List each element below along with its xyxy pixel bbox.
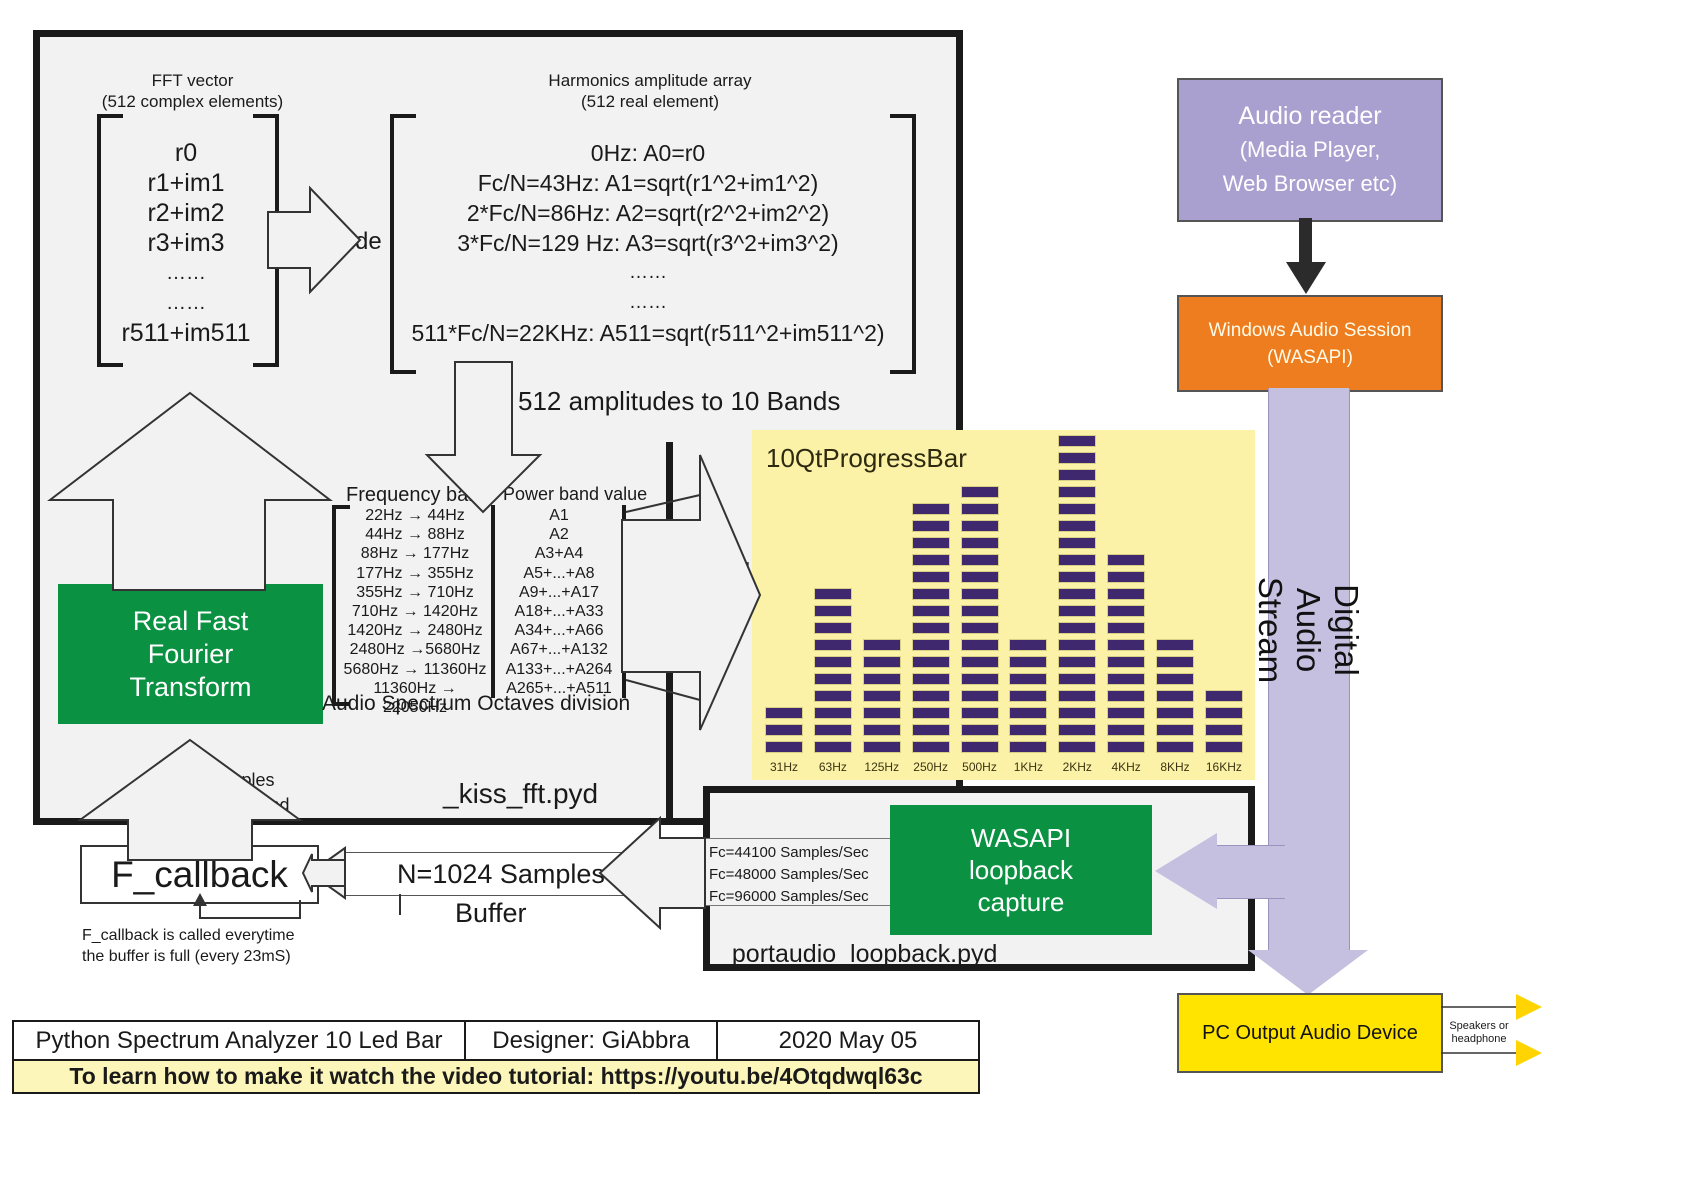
bar-segment bbox=[961, 639, 999, 651]
power-divider bbox=[622, 505, 626, 698]
bar-segment bbox=[814, 605, 852, 617]
progress-bar[interactable] bbox=[814, 588, 852, 753]
bar-segment bbox=[863, 690, 901, 702]
frequency-label: 4KHz bbox=[1107, 760, 1145, 774]
frequency-band-cell: 177Hz → 355Hz bbox=[340, 564, 490, 583]
frequency-label: 250Hz bbox=[912, 760, 950, 774]
bar-segment bbox=[1058, 486, 1096, 498]
bar-segment bbox=[1058, 622, 1096, 634]
bar-segment bbox=[912, 605, 950, 617]
project-title: Python Spectrum Analyzer 10 Led Bar bbox=[14, 1022, 464, 1059]
reader-to-wasapi-arrow-head bbox=[1286, 262, 1326, 294]
wasapi-loopback-capture-box: WASAPI loopback capture bbox=[890, 805, 1152, 935]
frequency-band-cell: 2480Hz →5680Hz bbox=[340, 640, 490, 659]
progress-bar[interactable] bbox=[912, 503, 950, 753]
frequency-band-cell: 5680Hz → 11360Hz bbox=[340, 660, 490, 679]
bar-segment bbox=[912, 741, 950, 753]
bar-segment bbox=[863, 639, 901, 651]
bar-segment bbox=[961, 656, 999, 668]
frequency-label: 125Hz bbox=[863, 760, 901, 774]
bar-segment bbox=[1009, 724, 1047, 736]
power-band-column: A1A2A3+A4A5+...+A8A9+...+A17A18+...+A33A… bbox=[496, 506, 622, 698]
power-band-cell: A2 bbox=[496, 525, 622, 544]
bar-segment bbox=[1058, 537, 1096, 549]
bar-segment bbox=[1205, 741, 1243, 753]
frequency-band-column: 22Hz → 44Hz44Hz → 88Hz88Hz → 177Hz177Hz … bbox=[340, 506, 490, 717]
bar-segment bbox=[863, 724, 901, 736]
bar-segment bbox=[863, 673, 901, 685]
bar-segment bbox=[1058, 520, 1096, 532]
windows-audio-session-box: Windows Audio Session (WASAPI) bbox=[1177, 295, 1443, 392]
bar-segment bbox=[912, 537, 950, 549]
portaudio-module-label: _portaudio_loopback.pyd bbox=[718, 940, 997, 969]
amplitude-arrow-label: Amplitude bbox=[275, 228, 382, 256]
bar-segment bbox=[1058, 690, 1096, 702]
progress-bar[interactable] bbox=[1058, 435, 1096, 753]
sample-rate-box: Fc=44100 Samples/Sec Fc=48000 Samples/Se… bbox=[703, 838, 893, 906]
bar-segment bbox=[961, 622, 999, 634]
bar-segment bbox=[1058, 588, 1096, 600]
bar-segment bbox=[961, 673, 999, 685]
frequency-label: 1KHz bbox=[1009, 760, 1047, 774]
frequency-band-cell: 88Hz → 177Hz bbox=[340, 544, 490, 563]
bar-segment bbox=[1156, 741, 1194, 753]
fft-vector-title: FFT vector (512 complex elements) bbox=[85, 70, 300, 112]
bar-segment bbox=[961, 571, 999, 583]
bar-segment bbox=[961, 741, 999, 753]
bar-segment bbox=[961, 707, 999, 719]
bar-segment bbox=[1058, 554, 1096, 566]
harmonics-title: Harmonics amplitude array (512 real elem… bbox=[505, 70, 795, 112]
bar-segment bbox=[1058, 724, 1096, 736]
frequency-label: 8KHz bbox=[1156, 760, 1194, 774]
bar-segment bbox=[1205, 724, 1243, 736]
bar-segment bbox=[814, 622, 852, 634]
bar-segment bbox=[1058, 673, 1096, 685]
power-band-cell: A1 bbox=[496, 506, 622, 525]
power-band-cell: A18+...+A33 bbox=[496, 602, 622, 621]
bar-segment bbox=[765, 741, 803, 753]
bar-segment bbox=[814, 588, 852, 600]
bar-segment bbox=[1058, 571, 1096, 583]
bar-segment bbox=[961, 554, 999, 566]
power-band-cell: A67+...+A132 bbox=[496, 640, 622, 659]
bar-segment bbox=[814, 741, 852, 753]
frequency-label: 16KHz bbox=[1205, 760, 1243, 774]
digital-audio-stream-arrowhead bbox=[1248, 950, 1368, 995]
band-divider bbox=[491, 505, 495, 698]
power-note: 10 Power band values are used to set the… bbox=[640, 558, 765, 630]
frequency-label: 63Hz bbox=[814, 760, 852, 774]
bar-segment bbox=[912, 656, 950, 668]
stream-to-capture-arrow-shaft bbox=[1215, 845, 1285, 899]
bar-segment bbox=[814, 724, 852, 736]
bar-segment bbox=[765, 707, 803, 719]
bar-segment bbox=[912, 520, 950, 532]
fft-vector-elements: r0 r1+im1 r2+im2 r3+im3 …… …… r511+im511 bbox=[100, 138, 272, 348]
harmonics-lines: 0Hz: A0=r0 Fc/N=43Hz: A1=sqrt(r1^2+im1^2… bbox=[398, 138, 898, 348]
bar-segment bbox=[912, 503, 950, 515]
progress-bar[interactable] bbox=[765, 707, 803, 753]
bar-segment bbox=[1107, 741, 1145, 753]
bar-segment bbox=[961, 690, 999, 702]
buffer-caption: Buffer bbox=[455, 898, 527, 929]
designer: Designer: GiAbbra bbox=[464, 1022, 716, 1059]
bar-segment bbox=[961, 503, 999, 515]
bar-segment bbox=[961, 588, 999, 600]
bar-segment bbox=[961, 724, 999, 736]
power-band-cell: A3+A4 bbox=[496, 544, 622, 563]
bar-segment bbox=[814, 690, 852, 702]
bar-segment bbox=[863, 741, 901, 753]
power-band-header: Power band value bbox=[503, 484, 647, 505]
bar-segment bbox=[814, 673, 852, 685]
samples-note: 1024 Samples every 23mSecond bbox=[132, 768, 302, 818]
bar-segment bbox=[912, 588, 950, 600]
kiss-module-label: _kiss_fft.pyd bbox=[443, 778, 598, 810]
frequency-label: 500Hz bbox=[961, 760, 999, 774]
progress-bar[interactable] bbox=[1009, 639, 1047, 753]
callback-note: F_callback is called everytime the buffe… bbox=[82, 925, 295, 967]
audio-reader-box: Audio reader (Media Player, Web Browser … bbox=[1177, 78, 1443, 222]
vector-note: One vector of 512 complex elements every… bbox=[112, 463, 265, 541]
frequency-label-row: 31Hz63Hz125Hz250Hz500Hz1KHz2KHz4KHz8KHz1… bbox=[765, 760, 1243, 774]
frequency-label: 31Hz bbox=[765, 760, 803, 774]
real-fast-fourier-transform-box: Real Fast Fourier Transform bbox=[58, 584, 323, 724]
bar-segment bbox=[1058, 656, 1096, 668]
bar-segment bbox=[1156, 724, 1194, 736]
bar-segment bbox=[1058, 503, 1096, 515]
bar-segment bbox=[814, 639, 852, 651]
octaves-caption: Audio Spectrum Octaves division bbox=[322, 692, 630, 716]
bar-segment bbox=[1058, 469, 1096, 481]
bar-segment bbox=[814, 707, 852, 719]
bar-segment bbox=[1009, 656, 1047, 668]
bar-segment bbox=[912, 554, 950, 566]
bar-segment bbox=[912, 724, 950, 736]
frequency-band-header: Frequency band bbox=[346, 484, 491, 507]
bar-segment bbox=[1058, 707, 1096, 719]
title-block-row: Python Spectrum Analyzer 10 Led Bar Desi… bbox=[12, 1020, 980, 1061]
frequency-band-cell: 1420Hz → 2480Hz bbox=[340, 621, 490, 640]
bar-segment bbox=[912, 707, 950, 719]
bar-segment bbox=[961, 520, 999, 532]
bar-segment bbox=[863, 707, 901, 719]
bar-segment bbox=[863, 656, 901, 668]
frequency-band-cell: 355Hz → 710Hz bbox=[340, 583, 490, 602]
bar-segment bbox=[912, 622, 950, 634]
bar-segment bbox=[1107, 724, 1145, 736]
bar-segment bbox=[1009, 707, 1047, 719]
tutorial-link[interactable]: To learn how to make it watch the video … bbox=[12, 1061, 980, 1094]
bar-segment bbox=[961, 605, 999, 617]
f-callback-box: F_callback bbox=[80, 845, 319, 904]
bands-arrow-label: 512 amplitudes to 10 Bands bbox=[518, 386, 840, 417]
bar-segment bbox=[765, 724, 803, 736]
stream-to-capture-arrow-head bbox=[1155, 833, 1217, 909]
bar-segment bbox=[1058, 741, 1096, 753]
bar-segment bbox=[1009, 690, 1047, 702]
bar-segment bbox=[1009, 741, 1047, 753]
power-band-cell: A9+...+A17 bbox=[496, 583, 622, 602]
frequency-band-cell: 710Hz → 1420Hz bbox=[340, 602, 490, 621]
bar-segment bbox=[912, 639, 950, 651]
progress-bar[interactable] bbox=[961, 486, 999, 753]
power-band-cell: A34+...+A66 bbox=[496, 621, 622, 640]
bar-segment bbox=[1058, 605, 1096, 617]
frequency-label: 2KHz bbox=[1058, 760, 1096, 774]
bar-segment bbox=[961, 486, 999, 498]
bar-segment bbox=[1058, 435, 1096, 447]
buffer-box: N=1024 Samples bbox=[345, 852, 657, 896]
bar-segment bbox=[1058, 452, 1096, 464]
bar-segment bbox=[912, 690, 950, 702]
frequency-band-cell: 22Hz → 44Hz bbox=[340, 506, 490, 525]
bar-segment bbox=[1009, 673, 1047, 685]
power-band-cell: A5+...+A8 bbox=[496, 564, 622, 583]
speakers-label: Speakers or headphone bbox=[1448, 1020, 1510, 1046]
title-block: Python Spectrum Analyzer 10 Led Bar Desi… bbox=[12, 1020, 980, 1094]
progress-bar[interactable] bbox=[863, 639, 901, 753]
date: 2020 May 05 bbox=[716, 1022, 978, 1059]
bar-segment bbox=[961, 537, 999, 549]
bar-segment bbox=[1009, 639, 1047, 651]
pc-output-audio-device-box: PC Output Audio Device bbox=[1177, 993, 1443, 1073]
frequency-band-cell: 44Hz → 88Hz bbox=[340, 525, 490, 544]
speaker-icon-top bbox=[1516, 994, 1542, 1020]
power-band-cell: A133+...+A264 bbox=[496, 660, 622, 679]
bar-segment bbox=[814, 656, 852, 668]
speaker-icon-bottom bbox=[1516, 1040, 1542, 1066]
bar-segment bbox=[912, 571, 950, 583]
bar-segment bbox=[1058, 639, 1096, 651]
bar-segment bbox=[912, 673, 950, 685]
digital-audio-stream-label: Digital Audio Stream bbox=[1108, 540, 1508, 720]
